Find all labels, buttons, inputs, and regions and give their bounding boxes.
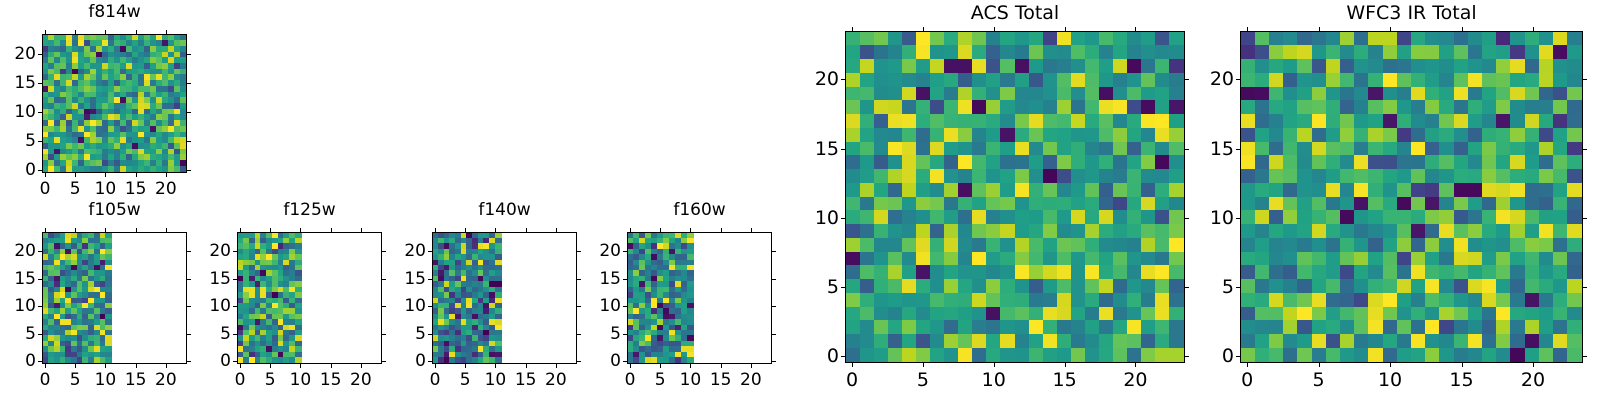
x-tick-mark [1462,363,1463,367]
y-tick-mark-right [772,251,776,252]
x-tick-mark-top [852,27,853,31]
y-tick-mark-right [187,279,191,280]
x-tick-mark-top [75,30,76,34]
y-tick-label: 20 [0,44,36,64]
y-tick-label: 20 [799,68,839,90]
y-tick-mark [1236,149,1240,150]
x-tick-label: 0 [235,370,246,390]
x-tick-mark-top [994,27,995,31]
panel-title: ACS Total [845,2,1185,24]
y-tick-label: 0 [1194,345,1234,367]
y-tick-mark [1236,356,1240,357]
y-tick-mark [233,306,237,307]
y-tick-label: 20 [191,241,231,261]
y-tick-label: 10 [191,296,231,316]
x-tick-mark-top [331,228,332,232]
y-tick-label: 0 [191,351,231,371]
x-tick-mark-top [240,228,241,232]
heatmap-image [433,233,576,363]
x-tick-label: 5 [70,370,81,390]
x-tick-mark [1390,363,1391,367]
x-tick-mark [45,173,46,177]
x-tick-label: 5 [460,370,471,390]
x-tick-mark-top [361,228,362,232]
x-tick-mark-top [526,228,527,232]
x-tick-label: 10 [290,370,312,390]
y-tick-mark [233,361,237,362]
heatmap-image [43,233,186,363]
x-tick-mark [240,364,241,368]
heatmap-image [1241,32,1582,362]
x-tick-mark [300,364,301,368]
x-tick-mark-top [495,228,496,232]
y-tick-mark-right [187,112,191,113]
y-tick-mark-right [187,334,191,335]
y-tick-mark [38,361,42,362]
y-tick-mark [428,306,432,307]
y-tick-mark-right [1185,287,1189,288]
axes-area [1240,31,1583,363]
y-tick-mark-right [772,306,776,307]
x-tick-mark-top [556,228,557,232]
y-tick-mark-right [1185,356,1189,357]
y-tick-mark-right [577,306,581,307]
x-tick-label: 10 [95,179,117,199]
y-tick-label: 0 [581,351,621,371]
y-tick-mark [233,334,237,335]
x-tick-mark-top [45,30,46,34]
x-tick-label: 20 [545,370,567,390]
x-tick-label: 20 [1123,369,1147,391]
y-tick-mark [1236,218,1240,219]
y-tick-label: 5 [0,131,36,151]
x-tick-label: 20 [155,370,177,390]
x-tick-mark [630,364,631,368]
x-tick-mark-top [465,228,466,232]
y-tick-mark-right [577,251,581,252]
x-tick-label: 10 [680,370,702,390]
panel-title: f125w [237,200,382,220]
y-tick-mark [428,279,432,280]
y-tick-mark [38,141,42,142]
x-tick-mark [435,364,436,368]
y-tick-mark [38,306,42,307]
y-tick-mark-right [772,279,776,280]
y-tick-label: 5 [799,276,839,298]
x-tick-label: 20 [1521,369,1545,391]
x-tick-mark-top [166,30,167,34]
x-tick-label: 10 [485,370,507,390]
y-tick-mark [428,361,432,362]
y-tick-mark [38,170,42,171]
y-tick-mark [841,287,845,288]
x-tick-mark-top [105,228,106,232]
x-tick-mark [852,363,853,367]
x-tick-mark-top [45,228,46,232]
x-tick-mark [660,364,661,368]
panel-wfc3-ir-total: WFC3 IR Total0510152005101520 [0,0,1600,400]
x-tick-mark [1247,363,1248,367]
y-tick-mark-right [187,83,191,84]
x-tick-mark [136,173,137,177]
y-tick-mark-right [382,306,386,307]
y-tick-mark [841,79,845,80]
y-tick-mark [233,251,237,252]
axes-area [627,232,772,364]
x-tick-mark-top [1065,27,1066,31]
x-tick-mark [556,364,557,368]
y-tick-label: 20 [0,241,36,261]
x-tick-mark-top [923,27,924,31]
x-tick-label: 0 [40,179,51,199]
y-tick-mark-right [187,54,191,55]
y-tick-mark [623,251,627,252]
x-tick-mark [690,364,691,368]
panel-acs-total: ACS Total0510152005101520 [0,0,1600,400]
y-tick-mark [38,83,42,84]
x-tick-label: 0 [430,370,441,390]
panel-f160w: f160w0510152005101520 [0,0,1600,400]
y-tick-mark [623,361,627,362]
y-tick-label: 0 [799,345,839,367]
x-tick-label: 0 [625,370,636,390]
x-tick-label: 5 [655,370,666,390]
y-tick-label: 10 [386,296,426,316]
x-tick-mark-top [75,228,76,232]
y-tick-mark [623,334,627,335]
y-tick-mark [428,251,432,252]
y-tick-label: 20 [581,241,621,261]
y-tick-label: 0 [386,351,426,371]
y-tick-mark [623,306,627,307]
x-tick-label: 0 [40,370,51,390]
y-tick-label: 10 [0,296,36,316]
y-tick-mark-right [382,334,386,335]
y-tick-mark [38,279,42,280]
x-tick-label: 10 [95,370,117,390]
x-tick-mark [136,364,137,368]
y-tick-mark [38,251,42,252]
y-tick-mark [233,279,237,280]
x-tick-mark [923,363,924,367]
x-tick-mark [526,364,527,368]
y-tick-mark-right [772,361,776,362]
x-tick-mark [361,364,362,368]
x-tick-label: 15 [515,370,537,390]
y-tick-mark-right [577,334,581,335]
x-tick-label: 15 [1052,369,1076,391]
axes-area [42,34,187,173]
y-tick-label: 5 [1194,276,1234,298]
x-tick-mark [721,364,722,368]
x-tick-mark [1533,363,1534,367]
y-tick-mark-right [187,141,191,142]
x-tick-mark-top [166,228,167,232]
x-tick-label: 15 [125,179,147,199]
x-tick-label: 0 [846,369,858,391]
y-tick-mark [841,218,845,219]
heatmap-image [43,35,186,172]
panel-f140w: f140w0510152005101520 [0,0,1600,400]
x-tick-mark-top [721,228,722,232]
heatmap-image [628,233,771,363]
x-tick-mark-top [751,228,752,232]
x-tick-mark [1319,363,1320,367]
y-tick-label: 10 [581,296,621,316]
y-tick-mark-right [1185,218,1189,219]
x-tick-mark [495,364,496,368]
x-tick-label: 15 [320,370,342,390]
x-tick-label: 5 [1313,369,1325,391]
panel-title: f140w [432,200,577,220]
y-tick-label: 0 [0,160,36,180]
panel-title: f814w [42,2,187,22]
y-tick-label: 0 [0,351,36,371]
y-tick-label: 15 [799,138,839,160]
heatmap-image [238,233,381,363]
y-tick-label: 5 [191,324,231,344]
panel-f105w: f105w0510152005101520 [0,0,1600,400]
y-tick-label: 15 [386,269,426,289]
x-tick-mark-top [105,30,106,34]
x-tick-label: 0 [1241,369,1253,391]
axes-area [42,232,187,364]
y-tick-mark [38,334,42,335]
x-tick-label: 20 [155,179,177,199]
y-tick-mark [841,149,845,150]
x-tick-mark [166,173,167,177]
x-tick-mark [105,364,106,368]
figure-canvas: f814w0510152005101520f105w05101520051015… [0,0,1600,400]
y-tick-mark-right [577,361,581,362]
x-tick-mark-top [435,228,436,232]
y-tick-mark [1236,287,1240,288]
x-tick-label: 5 [70,179,81,199]
y-tick-label: 15 [581,269,621,289]
y-tick-mark-right [1583,149,1587,150]
y-tick-mark-right [187,306,191,307]
y-tick-mark-right [1583,287,1587,288]
panel-title: WFC3 IR Total [1240,2,1583,24]
panel-f814w: f814w0510152005101520 [0,0,1600,400]
y-tick-label: 15 [191,269,231,289]
x-tick-mark [465,364,466,368]
y-tick-label: 10 [0,102,36,122]
x-tick-mark-top [660,228,661,232]
y-tick-mark [841,356,845,357]
y-tick-mark [623,279,627,280]
y-tick-mark-right [187,170,191,171]
x-tick-mark-top [630,228,631,232]
x-tick-mark [270,364,271,368]
y-tick-mark-right [382,279,386,280]
x-tick-label: 5 [917,369,929,391]
y-tick-label: 15 [0,73,36,93]
y-tick-mark [428,334,432,335]
x-tick-label: 15 [125,370,147,390]
x-tick-mark-top [1135,27,1136,31]
x-tick-mark-top [1390,27,1391,31]
y-tick-label: 5 [386,324,426,344]
x-tick-mark-top [1462,27,1463,31]
x-tick-label: 10 [1378,369,1402,391]
y-tick-mark [38,112,42,113]
x-tick-mark [105,173,106,177]
x-tick-mark [45,364,46,368]
x-tick-mark-top [1319,27,1320,31]
x-tick-mark [166,364,167,368]
x-tick-mark-top [1533,27,1534,31]
x-tick-mark [1135,363,1136,367]
x-tick-label: 20 [350,370,372,390]
y-tick-label: 5 [581,324,621,344]
x-tick-label: 15 [710,370,732,390]
x-tick-mark [1065,363,1066,367]
y-tick-mark-right [382,361,386,362]
y-tick-mark-right [1583,218,1587,219]
y-tick-mark-right [1583,356,1587,357]
y-tick-mark-right [1185,79,1189,80]
axes-area [432,232,577,364]
y-tick-label: 15 [0,269,36,289]
y-tick-mark-right [1185,149,1189,150]
axes-area [237,232,382,364]
y-tick-mark [38,54,42,55]
y-tick-mark-right [772,334,776,335]
x-tick-mark-top [690,228,691,232]
x-tick-mark [751,364,752,368]
y-tick-mark-right [187,251,191,252]
x-tick-mark [331,364,332,368]
y-tick-label: 15 [1194,138,1234,160]
x-tick-mark-top [136,30,137,34]
y-tick-label: 10 [799,207,839,229]
y-tick-label: 20 [1194,68,1234,90]
panel-f125w: f125w0510152005101520 [0,0,1600,400]
panel-title: f160w [627,200,772,220]
y-tick-mark-right [187,361,191,362]
x-tick-mark [75,173,76,177]
x-tick-mark-top [1247,27,1248,31]
y-tick-label: 5 [0,324,36,344]
y-tick-mark-right [577,279,581,280]
panel-title: f105w [42,200,187,220]
x-tick-mark-top [300,228,301,232]
y-tick-mark-right [382,251,386,252]
x-tick-label: 20 [740,370,762,390]
x-tick-label: 10 [982,369,1006,391]
x-tick-mark-top [136,228,137,232]
y-tick-label: 20 [386,241,426,261]
x-tick-mark-top [270,228,271,232]
x-tick-mark [994,363,995,367]
y-tick-label: 10 [1194,207,1234,229]
x-tick-label: 5 [265,370,276,390]
axes-area [845,31,1185,363]
y-tick-mark [1236,79,1240,80]
y-tick-mark-right [1583,79,1587,80]
x-tick-mark [75,364,76,368]
heatmap-image [846,32,1184,362]
x-tick-label: 15 [1449,369,1473,391]
